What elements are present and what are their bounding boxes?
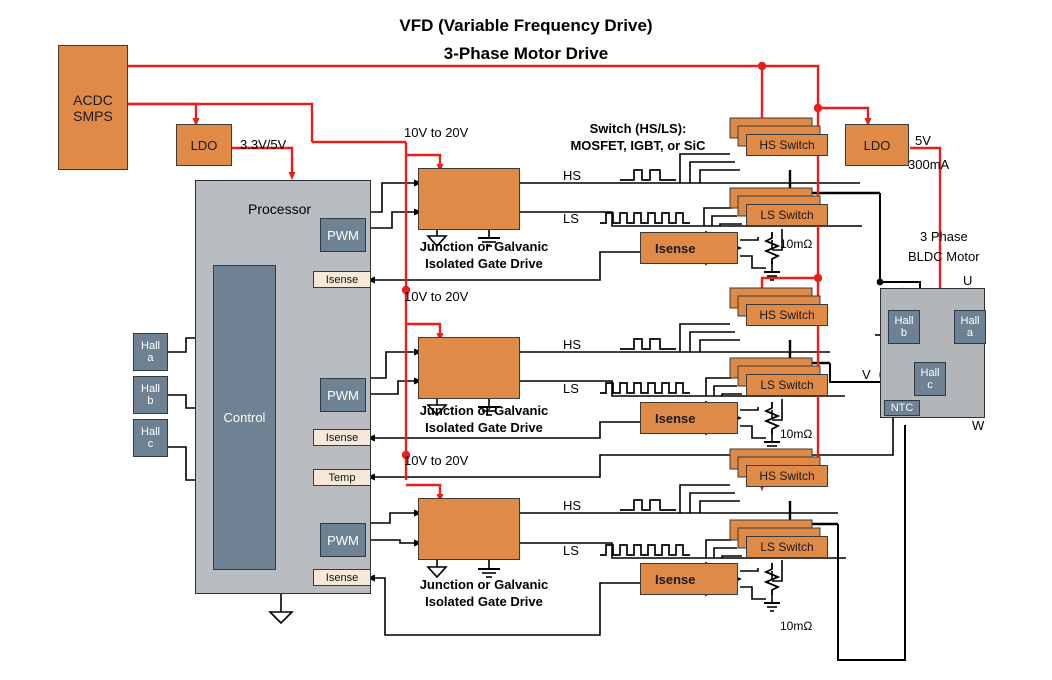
ldo-right-voltage-label: 5V <box>915 134 931 149</box>
ls-label-1: LS <box>563 212 579 227</box>
gate-drive-block-2[interactable] <box>418 337 520 399</box>
ldo-left-rail-label: 3.3V/5V <box>240 138 286 153</box>
phase-w-label: W <box>972 419 984 434</box>
hall-input-b[interactable]: Hall b <box>133 376 168 414</box>
isense-block-1[interactable]: Isense <box>640 232 738 264</box>
hs-switch-1[interactable]: HS Switch <box>746 134 828 156</box>
hs-label-3: HS <box>563 499 581 514</box>
ldo-right-current-label: 300mA <box>908 158 949 173</box>
ldo-left-block[interactable]: LDO <box>176 124 232 166</box>
phase-v-label: V <box>862 368 871 383</box>
gate-drive-block-3[interactable] <box>418 498 520 560</box>
gate-drive-caption-2a: Junction or Galvanic <box>404 404 564 419</box>
hs-switch-2[interactable]: HS Switch <box>746 304 828 326</box>
gate-drive-caption-1b: Isolated Gate Drive <box>404 257 564 272</box>
gate-rail-label-2: 10V to 20V <box>404 290 468 305</box>
gate-drive-caption-2b: Isolated Gate Drive <box>404 421 564 436</box>
hall-input-a[interactable]: Hall a <box>133 333 168 371</box>
isense-block-3[interactable]: Isense <box>640 563 738 595</box>
ls-waveform-3 <box>600 545 690 555</box>
hs-waveform-3 <box>620 500 676 510</box>
motor-caption-line2: BLDC Motor <box>908 250 980 265</box>
hs-label-2: HS <box>563 338 581 353</box>
ldo-right-block[interactable]: LDO <box>845 124 909 166</box>
switch-note-line2: MOSFET, IGBT, or SiC <box>548 139 728 154</box>
hs-switch-3[interactable]: HS Switch <box>746 465 828 487</box>
isense-block-2[interactable]: Isense <box>640 402 738 434</box>
page-title-line2: 3-Phase Motor Drive <box>0 44 1052 63</box>
shunt-label-2: 10mΩ <box>780 428 812 441</box>
pwm-block-1[interactable]: PWM <box>320 218 366 252</box>
ntc-block[interactable]: NTC <box>884 400 920 416</box>
processor-title: Processor <box>248 202 311 218</box>
switch-note-line1: Switch (HS/LS): <box>548 122 728 137</box>
gate-drive-caption-3b: Isolated Gate Drive <box>404 595 564 610</box>
page-title-line1: VFD (Variable Frequency Drive) <box>0 16 1052 35</box>
motor-hall-c[interactable]: Hall c <box>914 362 946 396</box>
pwm-block-2[interactable]: PWM <box>320 378 366 412</box>
shunt-label-1: 10mΩ <box>780 238 812 251</box>
temp-port[interactable]: Temp <box>313 469 371 486</box>
pwm-waveform-glyphs <box>600 170 690 555</box>
gate-drive-caption-1a: Junction or Galvanic <box>404 240 564 255</box>
phase-u-label: U <box>963 274 972 289</box>
motor-hall-a[interactable]: Hall a <box>954 310 986 344</box>
motor-hall-b[interactable]: Hall b <box>888 310 920 344</box>
isense-port-3[interactable]: Isense <box>313 569 371 586</box>
isense-port-1[interactable]: Isense <box>313 271 371 288</box>
ls-waveform-2 <box>600 383 690 393</box>
control-block[interactable]: Control <box>213 265 276 570</box>
hs-waveform-1 <box>620 170 676 180</box>
gate-drive-block-1[interactable] <box>418 168 520 230</box>
bldc-motor-block[interactable] <box>880 288 985 418</box>
hall-input-c[interactable]: Hall c <box>133 419 168 457</box>
motor-caption-line1: 3 Phase <box>920 230 968 245</box>
acdc-smps-block[interactable]: ACDC SMPS <box>58 45 128 170</box>
pwm-block-3[interactable]: PWM <box>320 523 366 557</box>
hs-label-1: HS <box>563 169 581 184</box>
ls-waveform-1 <box>600 213 690 223</box>
gate-drive-caption-3a: Junction or Galvanic <box>404 578 564 593</box>
ls-switch-1[interactable]: LS Switch <box>746 204 828 226</box>
gate-rail-label-3: 10V to 20V <box>404 454 468 469</box>
isense-port-2[interactable]: Isense <box>313 429 371 446</box>
gate-rail-label-1: 10V to 20V <box>404 126 468 141</box>
vfd-block-diagram: VFD (Variable Frequency Drive) 3-Phase M… <box>0 0 1052 680</box>
ls-switch-2[interactable]: LS Switch <box>746 374 828 396</box>
ls-label-3: LS <box>563 544 579 559</box>
ls-switch-3[interactable]: LS Switch <box>746 536 828 558</box>
hs-waveform-2 <box>620 339 676 349</box>
ls-label-2: LS <box>563 382 579 397</box>
shunt-label-3: 10mΩ <box>780 620 812 633</box>
